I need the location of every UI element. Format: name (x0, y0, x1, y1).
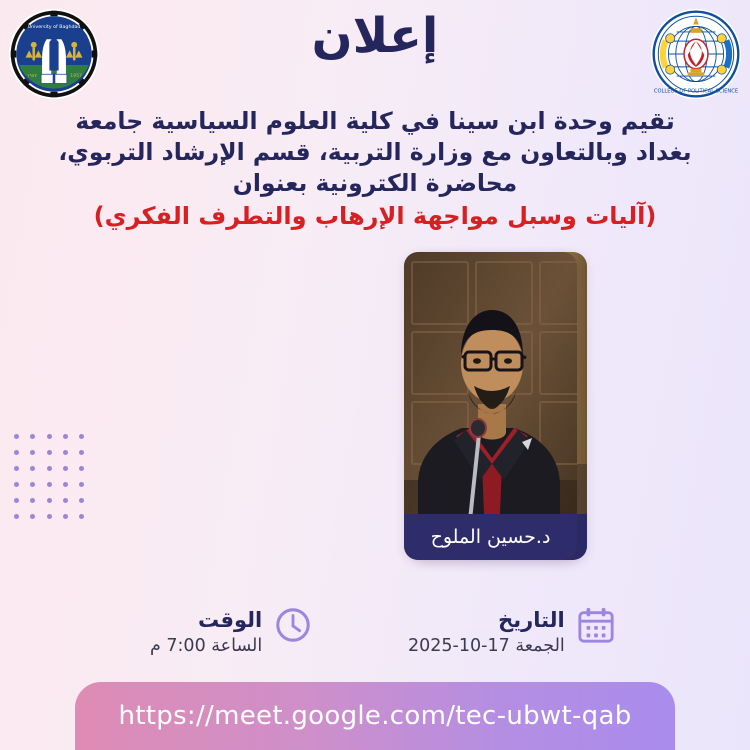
event-time-texts: الوقت الساعة 7:00 م (150, 606, 262, 658)
time-value: الساعة 7:00 م (150, 635, 262, 658)
meeting-link-url[interactable]: https://meet.google.com/tec-ubwt-qab (119, 701, 632, 731)
university-of-baghdad-logo: University of Baghdad ١٩٥٧ (8, 8, 100, 100)
clock-icon (274, 606, 312, 644)
speaker-name: د.حسين الملوح (431, 526, 551, 548)
body-line-3: محاضرة الكترونية بعنوان (30, 168, 720, 199)
svg-text:1957: 1957 (70, 73, 82, 79)
calendar-icon (577, 606, 615, 644)
announcement-body: تقيم وحدة ابن سينا في كلية العلوم السياس… (30, 106, 720, 233)
event-time-block: الوقت الساعة 7:00 م (150, 606, 312, 658)
svg-text:١٩٥٧: ١٩٥٧ (27, 74, 37, 79)
event-date-block: التاريخ الجمعة 17-10-2025 (408, 606, 615, 658)
event-date-texts: التاريخ الجمعة 17-10-2025 (408, 606, 565, 658)
event-info-row: التاريخ الجمعة 17-10-2025 الوقت الساعة 7… (0, 606, 750, 678)
speaker-name-bar: د.حسين الملوح (404, 514, 577, 560)
page-title: إعلان (0, 12, 750, 60)
poster-header: COLLEGE OF POLITICAL SCIENCE إعلان (0, 0, 750, 108)
body-line-1: تقيم وحدة ابن سينا في كلية العلوم السياس… (30, 106, 720, 137)
announcement-poster: COLLEGE OF POLITICAL SCIENCE إعلان (0, 0, 750, 750)
lecture-title: (آليات وسبل مواجهة الإرهاب والتطرف الفكر… (30, 201, 720, 233)
date-label: التاريخ (408, 608, 565, 632)
time-label: الوقت (150, 608, 262, 632)
svg-text:University of Baghdad: University of Baghdad (28, 24, 81, 30)
date-value: الجمعة 17-10-2025 (408, 635, 565, 658)
speaker-card: د.حسين الملوح (404, 252, 577, 560)
svg-text:COLLEGE OF POLITICAL SCIENCE: COLLEGE OF POLITICAL SCIENCE (654, 89, 738, 95)
speakers-section: م.م ضاري خميس (0, 252, 750, 564)
body-line-2: بغداد وبالتعاون مع وزارة التربية، قسم ال… (30, 137, 720, 168)
meeting-link-bar[interactable]: https://meet.google.com/tec-ubwt-qab (75, 682, 675, 750)
